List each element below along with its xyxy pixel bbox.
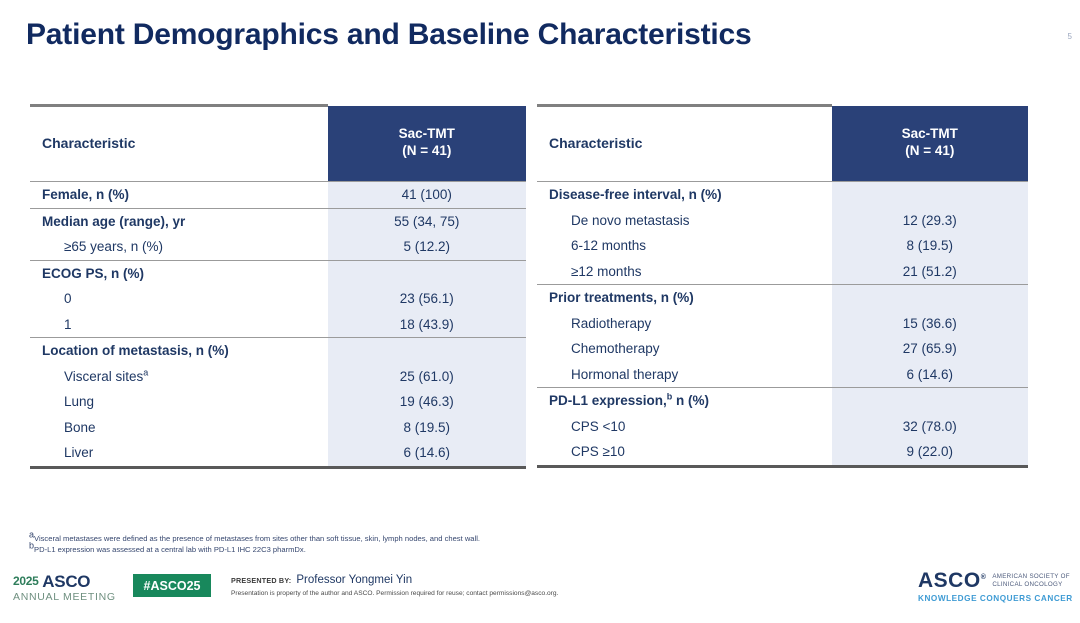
table-row: Chemotherapy27 (65.9) bbox=[537, 336, 1028, 362]
society-line-1: AMERICAN SOCIETY OF bbox=[992, 573, 1069, 581]
table-header-row: CharacteristicSac-TMT(N = 41) bbox=[537, 106, 1028, 182]
table-row: 023 (56.1) bbox=[30, 286, 526, 312]
row-label: ≥12 months bbox=[537, 259, 832, 285]
presented-by-block: PRESENTED BY: Professor Yongmei Yin Pres… bbox=[231, 574, 558, 597]
table-row: Radiotherapy15 (36.6) bbox=[537, 311, 1028, 337]
row-label: Radiotherapy bbox=[537, 311, 832, 337]
table-row: ECOG PS, n (%) bbox=[30, 260, 526, 286]
table-row: 118 (43.9) bbox=[30, 312, 526, 338]
row-label: Bone bbox=[30, 415, 328, 441]
table-row: Median age (range), yr55 (34, 75) bbox=[30, 208, 526, 234]
asco-wordmark: ASCO bbox=[42, 572, 90, 591]
meeting-subtitle: ANNUAL MEETING bbox=[13, 592, 116, 603]
row-value bbox=[328, 260, 526, 286]
row-value: 19 (46.3) bbox=[328, 389, 526, 415]
row-label: Location of metastasis, n (%) bbox=[30, 338, 328, 364]
table-row: CPS ≥109 (22.0) bbox=[537, 439, 1028, 466]
row-value: 8 (19.5) bbox=[832, 233, 1028, 259]
header-treatment-arm: Sac-TMT(N = 41) bbox=[328, 106, 526, 182]
row-label: PD-L1 expression,b n (%) bbox=[537, 388, 832, 414]
row-label: Liver bbox=[30, 440, 328, 467]
header-treatment-arm: Sac-TMT(N = 41) bbox=[832, 106, 1028, 182]
table-row: Lung19 (46.3) bbox=[30, 389, 526, 415]
row-label: ECOG PS, n (%) bbox=[30, 260, 328, 286]
table-row: Bone8 (19.5) bbox=[30, 415, 526, 441]
row-label: Female, n (%) bbox=[30, 182, 328, 209]
footnotes: aVisceral metastases were defined as the… bbox=[29, 533, 480, 555]
header-characteristic: Characteristic bbox=[537, 106, 832, 182]
permission-note: Presentation is property of the author a… bbox=[231, 590, 558, 597]
row-label: CPS ≥10 bbox=[537, 439, 832, 466]
table-row: Visceral sitesa25 (61.0) bbox=[30, 364, 526, 390]
row-label: Median age (range), yr bbox=[30, 208, 328, 234]
row-label: Chemotherapy bbox=[537, 336, 832, 362]
page-number: 5 bbox=[1068, 32, 1072, 41]
row-label: Lung bbox=[30, 389, 328, 415]
table-row: Location of metastasis, n (%) bbox=[30, 338, 526, 364]
row-value: 15 (36.6) bbox=[832, 311, 1028, 337]
table-row: ≥12 months21 (51.2) bbox=[537, 259, 1028, 285]
row-value: 27 (65.9) bbox=[832, 336, 1028, 362]
row-value: 5 (12.2) bbox=[328, 234, 526, 260]
footnote-line: bPD-L1 expression was assessed at a cent… bbox=[29, 544, 480, 555]
row-value: 9 (22.0) bbox=[832, 439, 1028, 466]
table-right-body: CharacteristicSac-TMT(N = 41)Disease-fre… bbox=[537, 106, 1028, 467]
table-row: CPS <1032 (78.0) bbox=[537, 414, 1028, 440]
meeting-year: 2025 bbox=[13, 574, 39, 588]
row-value: 18 (43.9) bbox=[328, 312, 526, 338]
row-value bbox=[832, 182, 1028, 208]
row-label: CPS <10 bbox=[537, 414, 832, 440]
table-row: Prior treatments, n (%) bbox=[537, 285, 1028, 311]
asco-annual-meeting-logo: 2025 ASCO ANNUAL MEETING bbox=[13, 573, 116, 603]
row-value: 21 (51.2) bbox=[832, 259, 1028, 285]
row-label: 0 bbox=[30, 286, 328, 312]
table-row: PD-L1 expression,b n (%) bbox=[537, 388, 1028, 414]
row-value: 12 (29.3) bbox=[832, 208, 1028, 234]
demographics-table-right: CharacteristicSac-TMT(N = 41)Disease-fre… bbox=[537, 104, 1028, 468]
header-characteristic: Characteristic bbox=[30, 106, 328, 182]
footnote-line: aVisceral metastases were defined as the… bbox=[29, 533, 480, 544]
row-value: 41 (100) bbox=[328, 182, 526, 209]
row-label: Prior treatments, n (%) bbox=[537, 285, 832, 311]
row-value: 55 (34, 75) bbox=[328, 208, 526, 234]
row-label: De novo metastasis bbox=[537, 208, 832, 234]
row-value: 25 (61.0) bbox=[328, 364, 526, 390]
asco-society-logo: ASCO® AMERICAN SOCIETY OF CLINICAL ONCOL… bbox=[918, 570, 1073, 603]
footnote-marker: a bbox=[143, 367, 148, 377]
table-row: De novo metastasis12 (29.3) bbox=[537, 208, 1028, 234]
row-label: 6-12 months bbox=[537, 233, 832, 259]
row-label: ≥65 years, n (%) bbox=[30, 234, 328, 260]
presented-by-label: PRESENTED BY: bbox=[231, 576, 291, 585]
demographics-table-left: CharacteristicSac-TMT(N = 41)Female, n (… bbox=[30, 104, 526, 469]
table-row: Hormonal therapy6 (14.6) bbox=[537, 362, 1028, 388]
table-row: Disease-free interval, n (%) bbox=[537, 182, 1028, 208]
hashtag-badge: #ASCO25 bbox=[133, 574, 211, 597]
table-header-row: CharacteristicSac-TMT(N = 41) bbox=[30, 106, 526, 182]
presenter-name: Professor Yongmei Yin bbox=[296, 574, 412, 586]
row-value: 23 (56.1) bbox=[328, 286, 526, 312]
page-title: Patient Demographics and Baseline Charac… bbox=[26, 18, 751, 52]
asco-tagline: KNOWLEDGE CONQUERS CANCER bbox=[918, 594, 1073, 603]
row-label: Disease-free interval, n (%) bbox=[537, 182, 832, 208]
row-label: Hormonal therapy bbox=[537, 362, 832, 388]
table-row: Female, n (%)41 (100) bbox=[30, 182, 526, 209]
table-left-body: CharacteristicSac-TMT(N = 41)Female, n (… bbox=[30, 106, 526, 468]
row-value: 8 (19.5) bbox=[328, 415, 526, 441]
row-value: 32 (78.0) bbox=[832, 414, 1028, 440]
asco-society-wordmark: ASCO bbox=[918, 569, 981, 592]
row-value: 6 (14.6) bbox=[328, 440, 526, 467]
registered-mark-icon: ® bbox=[981, 574, 987, 581]
row-label: Visceral sitesa bbox=[30, 364, 328, 390]
row-value: 6 (14.6) bbox=[832, 362, 1028, 388]
table-row: ≥65 years, n (%)5 (12.2) bbox=[30, 234, 526, 260]
row-label: 1 bbox=[30, 312, 328, 338]
society-line-2: CLINICAL ONCOLOGY bbox=[992, 581, 1069, 589]
footnote-marker: b bbox=[667, 392, 673, 402]
row-value bbox=[328, 338, 526, 364]
row-value bbox=[832, 285, 1028, 311]
table-row: 6-12 months8 (19.5) bbox=[537, 233, 1028, 259]
table-row: Liver6 (14.6) bbox=[30, 440, 526, 467]
row-value bbox=[832, 388, 1028, 414]
